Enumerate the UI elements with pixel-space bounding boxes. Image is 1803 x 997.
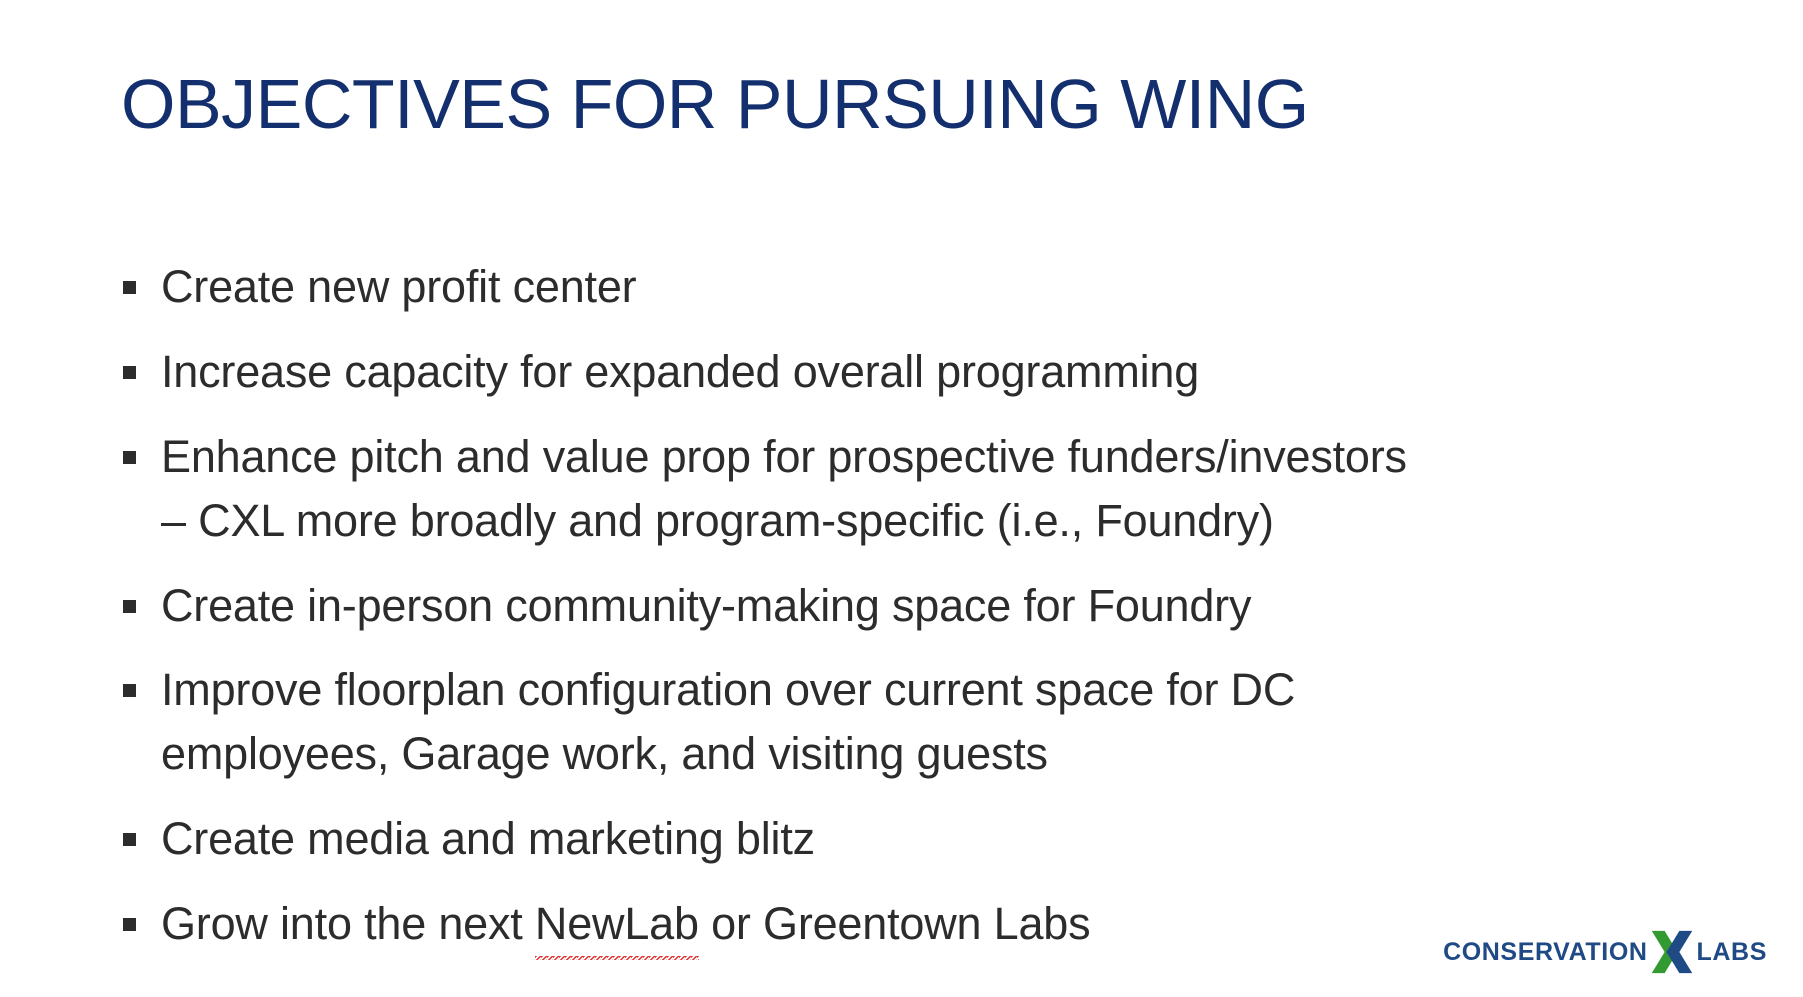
misspelled-word: NewLab bbox=[535, 892, 699, 961]
square-bullet-icon bbox=[123, 451, 136, 464]
list-item-label: Improve floorplan configuration over cur… bbox=[161, 658, 1741, 722]
square-bullet-icon bbox=[123, 833, 136, 846]
list-item: Create in-person community-making space … bbox=[121, 574, 1741, 638]
list-item-text-before: Grow into the next bbox=[161, 898, 535, 949]
list-item-text-after: or Greentown Labs bbox=[699, 898, 1091, 949]
presentation-slide: OBJECTIVES FOR PURSUING WING Create new … bbox=[0, 0, 1803, 997]
list-item-label: Increase capacity for expanded overall p… bbox=[161, 340, 1741, 404]
logo-word-labs: LABS bbox=[1697, 940, 1767, 965]
list-item: Increase capacity for expanded overall p… bbox=[121, 340, 1741, 404]
list-item-label: Enhance pitch and value prop for prospec… bbox=[161, 425, 1741, 489]
bullet-list: Create new profit center Increase capaci… bbox=[121, 255, 1741, 961]
list-item-label: Create in-person community-making space … bbox=[161, 574, 1741, 638]
list-item-subline: CXL more broadly and program-specific (i… bbox=[161, 489, 1741, 553]
list-item: Enhance pitch and value prop for prospec… bbox=[121, 425, 1741, 553]
brand-logo: CONSERVATION LABS bbox=[1443, 929, 1767, 975]
list-item-label: Create media and marketing blitz bbox=[161, 807, 1741, 871]
square-bullet-icon bbox=[123, 918, 136, 931]
list-item-continuation: employees, Garage work, and visiting gue… bbox=[161, 722, 1741, 786]
logo-word-conservation: CONSERVATION bbox=[1443, 940, 1647, 965]
x-mark-icon bbox=[1649, 929, 1695, 975]
square-bullet-icon bbox=[123, 600, 136, 613]
square-bullet-icon bbox=[123, 366, 136, 379]
square-bullet-icon bbox=[123, 281, 136, 294]
list-item: Create new profit center bbox=[121, 255, 1741, 319]
square-bullet-icon bbox=[123, 684, 136, 697]
list-item-label: Create new profit center bbox=[161, 255, 1741, 319]
list-item: Create media and marketing blitz bbox=[121, 807, 1741, 871]
list-item: Improve floorplan configuration over cur… bbox=[121, 658, 1741, 786]
page-title: OBJECTIVES FOR PURSUING WING bbox=[121, 68, 1721, 142]
